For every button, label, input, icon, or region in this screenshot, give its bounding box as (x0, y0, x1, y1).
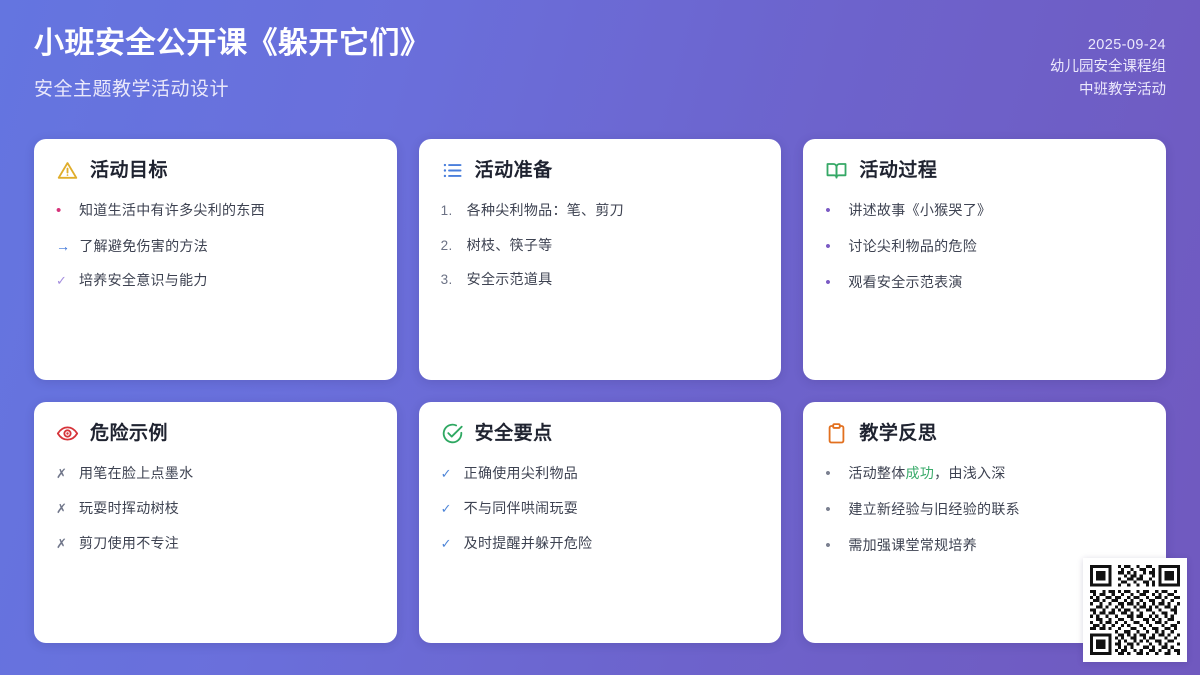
card-header: 危险示例 (56, 422, 375, 445)
card-list: 1. 各种尖利物品：笔、剪刀 2. 树枝、筷子等 3. 安全示范道具 (441, 200, 760, 290)
list-item: 1. 各种尖利物品：笔、剪刀 (441, 200, 760, 221)
list-item: ✗ 剪刀使用不专注 (56, 533, 375, 554)
bullet-dot-icon: • (825, 535, 839, 557)
list-item-text: 各种尖利物品：笔、剪刀 (467, 200, 624, 220)
eye-icon (56, 422, 79, 445)
list-item-text: 活动整体成功，由浅入深 (848, 463, 1005, 483)
slide-header: 小班安全公开课《躲开它们》 安全主题教学活动设计 2025-09-24 幼儿园安… (34, 22, 1166, 118)
list-item-text: 用笔在脸上点墨水 (79, 463, 193, 483)
check-icon: ✓ (441, 500, 455, 519)
arrow-right-icon: → (56, 236, 70, 256)
cross-icon: ✗ (56, 535, 70, 554)
card-title: 安全要点 (475, 424, 553, 443)
list-item-text: 建立新经验与旧经验的联系 (848, 499, 1020, 519)
header-meta: 2025-09-24 幼儿园安全课程组 中班教学活动 (1050, 22, 1166, 101)
card-header: 教学反思 (825, 422, 1144, 445)
list-item: • 讲述故事《小猴哭了》 (825, 200, 1144, 222)
meta-category: 中班教学活动 (1050, 79, 1166, 101)
card-list: • 讲述故事《小猴哭了》 • 讨论尖利物品的危险 • 观看安全示范表演 (825, 200, 1144, 293)
list-item: ✓ 培养安全意识与能力 (56, 270, 375, 291)
cross-icon: ✗ (56, 465, 70, 484)
success-highlight: 成功 (906, 465, 935, 481)
slide-root: 小班安全公开课《躲开它们》 安全主题教学活动设计 2025-09-24 幼儿园安… (0, 0, 1200, 675)
list-item: ✗ 用笔在脸上点墨水 (56, 463, 375, 484)
card-list: • 知道生活中有许多尖利的东西 → 了解避免伤害的方法 ✓ 培养安全意识与能力 (56, 200, 375, 291)
list-item-text: 及时提醒并躲开危险 (464, 533, 593, 553)
list-number: 1. (441, 201, 458, 221)
bullet-dot-icon: • (825, 200, 839, 222)
list-item-text: 培养安全意识与能力 (79, 270, 208, 290)
card-header: 安全要点 (441, 422, 760, 445)
list-item: • 知道生活中有许多尖利的东西 (56, 200, 375, 222)
list-item-text: 剪刀使用不专注 (79, 533, 179, 553)
list-number: 3. (441, 270, 458, 290)
list-item: ✓ 正确使用尖利物品 (441, 463, 760, 484)
list-item: ✓ 及时提醒并躲开危险 (441, 533, 760, 554)
list-item-text: 树枝、筷子等 (467, 235, 553, 255)
card-header: 活动过程 (825, 159, 1144, 182)
list-item: ✓ 不与同伴哄闹玩耍 (441, 498, 760, 519)
list-item-text: 安全示范道具 (467, 269, 553, 289)
check-icon: ✓ (56, 272, 70, 291)
cross-icon: ✗ (56, 500, 70, 519)
page-subtitle: 安全主题教学活动设计 (34, 74, 431, 101)
bullet-dot-icon: • (56, 200, 70, 222)
card-list: ✗ 用笔在脸上点墨水 ✗ 玩耍时挥动树枝 ✗ 剪刀使用不专注 (56, 463, 375, 554)
bullet-dot-icon: • (825, 236, 839, 258)
list-item-text: 正确使用尖利物品 (464, 463, 578, 483)
card-title: 活动目标 (90, 161, 168, 180)
card-safety-points: 安全要点 ✓ 正确使用尖利物品 ✓ 不与同伴哄闹玩耍 ✓ 及时提醒并躲开危险 (419, 402, 782, 643)
bullet-dot-icon: • (825, 499, 839, 521)
card-grid: 活动目标 • 知道生活中有许多尖利的东西 → 了解避免伤害的方法 ✓ 培养安全意… (34, 139, 1166, 643)
qr-code[interactable] (1083, 558, 1187, 662)
check-circle-icon (441, 422, 464, 445)
list-item-text: 玩耍时挥动树枝 (79, 498, 179, 518)
list-item: • 建立新经验与旧经验的联系 (825, 499, 1144, 521)
list-item-text: 讲述故事《小猴哭了》 (848, 200, 991, 220)
qr-code-image (1090, 565, 1180, 655)
list-item-text: 了解避免伤害的方法 (79, 236, 208, 256)
list-icon (441, 159, 464, 182)
card-title: 活动准备 (475, 161, 553, 180)
card-header: 活动目标 (56, 159, 375, 182)
warning-triangle-icon (56, 159, 79, 182)
bullet-dot-icon: • (825, 272, 839, 294)
card-activity-process: 活动过程 • 讲述故事《小猴哭了》 • 讨论尖利物品的危险 • 观看安全示范表演 (803, 139, 1166, 380)
book-icon (825, 159, 848, 182)
bullet-dot-icon: • (825, 463, 839, 485)
page-title: 小班安全公开课《躲开它们》 (34, 26, 431, 62)
list-item: • 讨论尖利物品的危险 (825, 236, 1144, 258)
clipboard-icon (825, 422, 848, 445)
list-item: • 观看安全示范表演 (825, 272, 1144, 294)
header-left: 小班安全公开课《躲开它们》 安全主题教学活动设计 (34, 22, 431, 101)
list-item-text: 知道生活中有许多尖利的东西 (79, 200, 265, 220)
list-item: • 活动整体成功，由浅入深 (825, 463, 1144, 485)
reflection-text-after: ，由浅入深 (934, 465, 1006, 481)
list-item: • 需加强课堂常规培养 (825, 535, 1144, 557)
card-danger-examples: 危险示例 ✗ 用笔在脸上点墨水 ✗ 玩耍时挥动树枝 ✗ 剪刀使用不专注 (34, 402, 397, 643)
card-title: 活动过程 (859, 161, 937, 180)
list-item-text: 观看安全示范表演 (848, 272, 962, 292)
meta-date: 2025-09-24 (1050, 34, 1166, 56)
list-item: → 了解避免伤害的方法 (56, 236, 375, 256)
list-item: 3. 安全示范道具 (441, 269, 760, 290)
card-title: 教学反思 (859, 424, 937, 443)
card-title: 危险示例 (90, 424, 168, 443)
list-item: ✗ 玩耍时挥动树枝 (56, 498, 375, 519)
check-icon: ✓ (441, 465, 455, 484)
reflection-text-before: 活动整体 (848, 465, 905, 481)
card-list: • 活动整体成功，由浅入深 • 建立新经验与旧经验的联系 • 需加强课堂常规培养 (825, 463, 1144, 556)
card-list: ✓ 正确使用尖利物品 ✓ 不与同伴哄闹玩耍 ✓ 及时提醒并躲开危险 (441, 463, 760, 554)
list-item-text: 不与同伴哄闹玩耍 (464, 498, 578, 518)
list-item-text: 讨论尖利物品的危险 (848, 236, 977, 256)
list-item: 2. 树枝、筷子等 (441, 235, 760, 256)
list-number: 2. (441, 236, 458, 256)
meta-org: 幼儿园安全课程组 (1050, 56, 1166, 78)
card-activity-preparation: 活动准备 1. 各种尖利物品：笔、剪刀 2. 树枝、筷子等 3. 安全示范道具 (419, 139, 782, 380)
card-activity-goals: 活动目标 • 知道生活中有许多尖利的东西 → 了解避免伤害的方法 ✓ 培养安全意… (34, 139, 397, 380)
card-header: 活动准备 (441, 159, 760, 182)
check-icon: ✓ (441, 535, 455, 554)
list-item-text: 需加强课堂常规培养 (848, 535, 977, 555)
